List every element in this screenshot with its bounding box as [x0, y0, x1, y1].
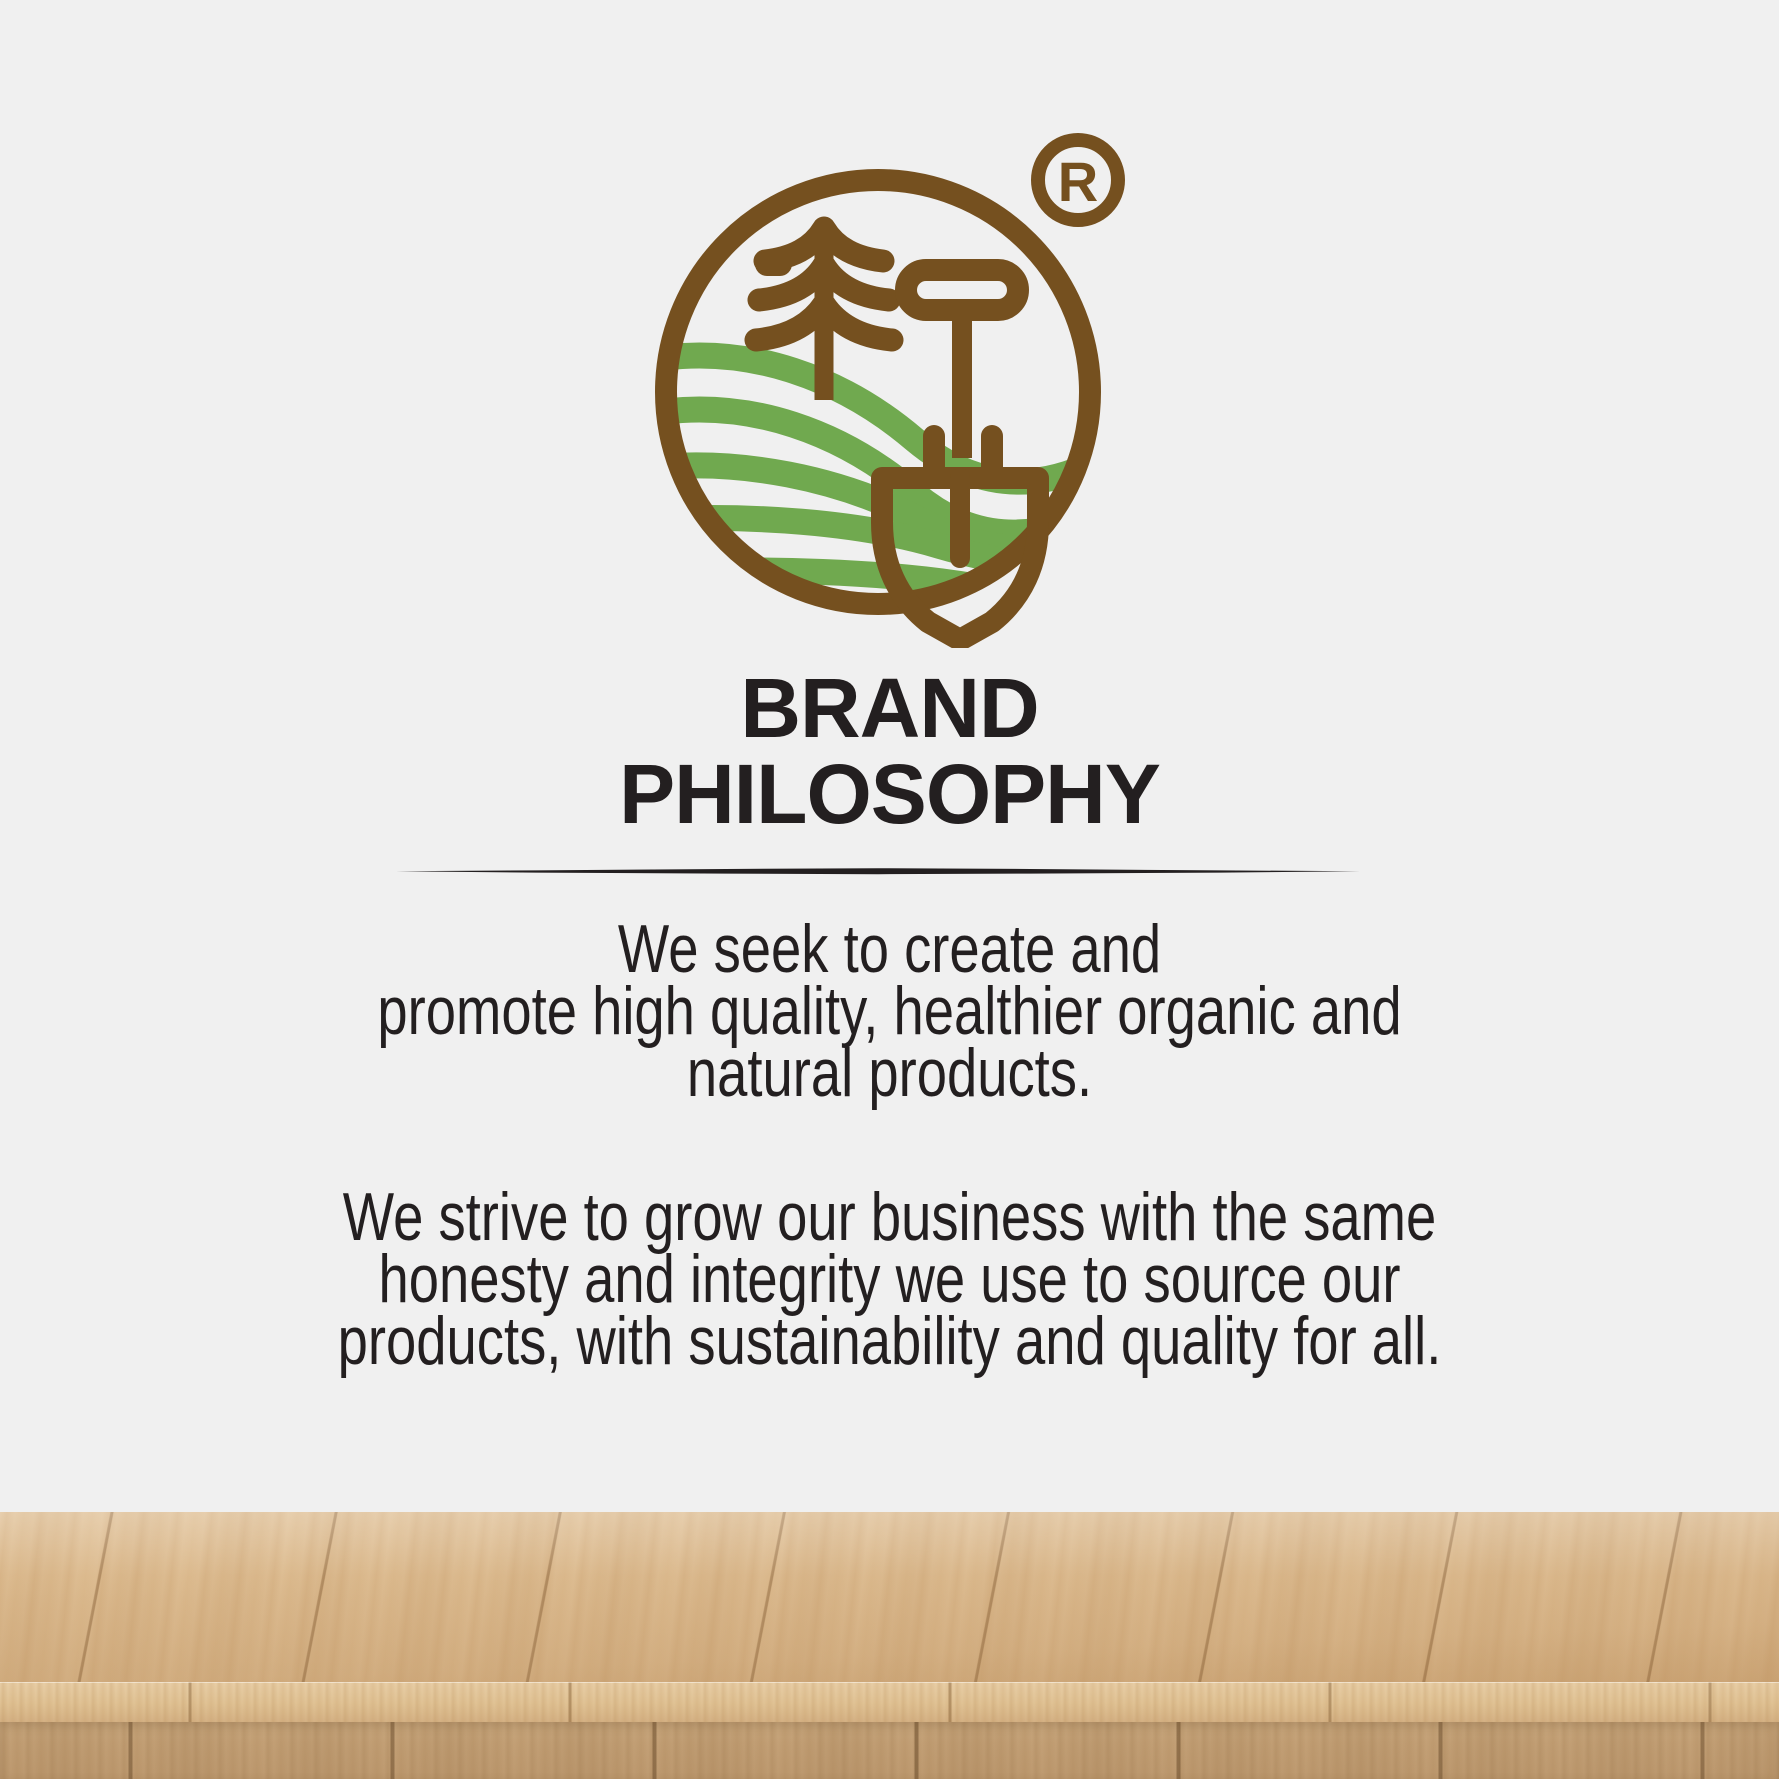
- tapered-rule-icon: [396, 864, 1360, 878]
- page-title: BRAND PHILOSOPHY: [0, 665, 1779, 837]
- table-edge-band: [0, 1682, 1779, 1722]
- philosophy-paragraph-1: We seek to create and promote high quali…: [178, 918, 1601, 1104]
- philosophy-paragraph-2: We strive to grow our business with the …: [178, 1186, 1601, 1372]
- farm-badge-logo-icon: R: [630, 128, 1150, 648]
- logo-block: R: [0, 128, 1779, 648]
- svg-text:R: R: [1057, 150, 1097, 213]
- table-back-planks: [0, 1722, 1779, 1779]
- body-copy: We seek to create and promote high quali…: [0, 918, 1779, 1372]
- table-top-planks: [0, 1512, 1779, 1682]
- logo-wrap: R: [630, 128, 1150, 648]
- title-line-2: PHILOSOPHY: [0, 751, 1779, 837]
- wooden-table-surface: [0, 1512, 1779, 1779]
- brand-philosophy-poster: R BRAND PHILOSOPHY We seek to create and…: [0, 0, 1779, 1779]
- registered-trademark-icon: R: [1038, 140, 1118, 220]
- title-line-1: BRAND: [0, 665, 1779, 751]
- divider: [396, 864, 1360, 878]
